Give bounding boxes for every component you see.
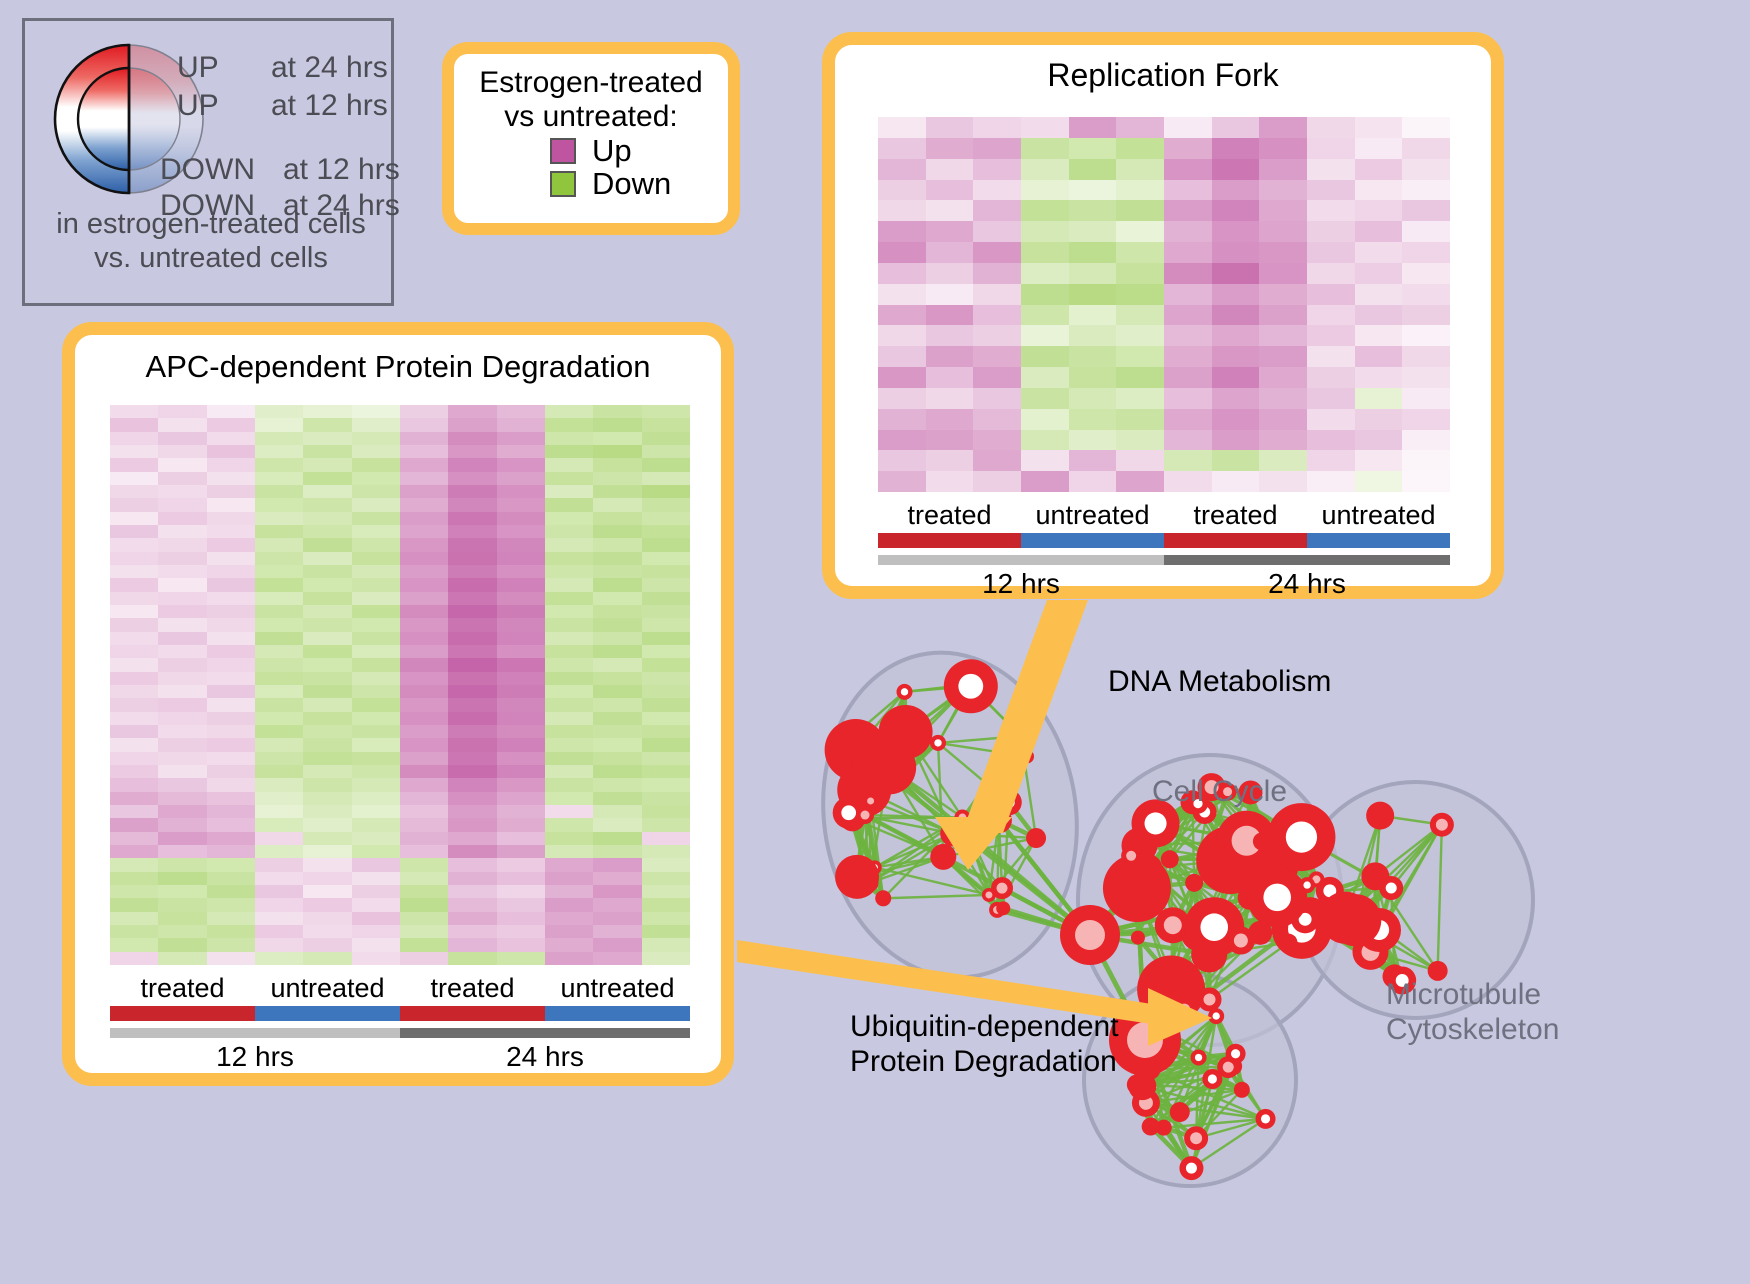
heatmap-cell	[642, 752, 690, 765]
heatmap-cell	[1164, 409, 1212, 430]
heatmap-cell	[400, 592, 448, 605]
heatmap-cell	[255, 738, 303, 751]
heatmap-cell	[1069, 388, 1117, 409]
heatmap-cell	[352, 525, 400, 538]
heatmap-cell	[545, 552, 593, 565]
heatmap-cell	[303, 512, 351, 525]
heatmap-cell	[545, 472, 593, 485]
heatmap-cell	[303, 885, 351, 898]
heatmap-cell	[593, 698, 641, 711]
heatmap-cell	[255, 472, 303, 485]
heatmap-cell	[973, 159, 1021, 180]
heatmap-cell	[497, 512, 545, 525]
heatmap-cell	[1355, 242, 1403, 263]
heatmap-cell	[110, 512, 158, 525]
heatmap-cell	[1355, 450, 1403, 471]
heatmap-cell	[1402, 221, 1450, 242]
heatmap-cell	[400, 845, 448, 858]
heatmap-cell	[497, 778, 545, 791]
heatmap-cell	[448, 578, 496, 591]
heatmap-cell	[400, 498, 448, 511]
heatmap-cell	[593, 832, 641, 845]
heatmap-cell	[1355, 263, 1403, 284]
heatmap-cell	[303, 898, 351, 911]
heatmap-cell	[158, 552, 206, 565]
heatmap-cell	[400, 525, 448, 538]
network-node-core	[1263, 884, 1291, 912]
heatmap-cell	[448, 605, 496, 618]
axis-group-label: treated	[878, 500, 1021, 531]
heatmap-cell	[207, 512, 255, 525]
heatmap-cell	[158, 472, 206, 485]
timepoint-label: 12 hrs	[110, 1041, 400, 1073]
heatmap-cell	[448, 912, 496, 925]
heatmap-cell	[110, 565, 158, 578]
heatmap-cell	[352, 805, 400, 818]
network-node-core	[1231, 1049, 1240, 1058]
heatmap-cell	[1116, 325, 1164, 346]
heatmap-cell	[1069, 471, 1117, 492]
heatmap-cell	[110, 685, 158, 698]
heatmap-cell	[303, 485, 351, 498]
heatmap-cell	[352, 485, 400, 498]
color-key-footnote: in estrogen-treated cells vs. untreated …	[25, 207, 397, 275]
treatment-color-bar	[110, 1006, 690, 1021]
heatmap-cell	[352, 472, 400, 485]
heatmap-cell	[1259, 117, 1307, 138]
heatmap-cell	[1021, 388, 1069, 409]
heatmap-cell	[352, 632, 400, 645]
heatmap-cell	[926, 409, 974, 430]
heatmap-cell	[255, 485, 303, 498]
key-word-up-12: UP	[177, 89, 219, 123]
heatmap-cell	[400, 725, 448, 738]
heatmap-cell	[1402, 180, 1450, 201]
heatmap-cell	[207, 845, 255, 858]
heatmap-cell	[593, 792, 641, 805]
heatmap-cell	[400, 405, 448, 418]
heatmap-cell	[400, 645, 448, 658]
network-node-core	[1195, 1054, 1202, 1061]
heatmap-cell	[545, 658, 593, 671]
heatmap-cell	[110, 458, 158, 471]
heatmap-cell	[207, 645, 255, 658]
treatment-bar-segment	[1021, 533, 1164, 548]
heatmap-cell	[1307, 325, 1355, 346]
heatmap-cell	[110, 578, 158, 591]
heatmap-cell	[593, 472, 641, 485]
network-node-core	[1386, 882, 1397, 893]
heatmap-cell	[303, 418, 351, 431]
heatmap-cell	[642, 765, 690, 778]
color-key-box: UP at 24 hrs UP at 12 hrs DOWN at 12 hrs…	[22, 18, 394, 306]
heatmap-cell	[545, 872, 593, 885]
network-node-core	[1127, 1022, 1163, 1058]
network-node-core	[861, 811, 870, 820]
heatmap-cell	[303, 685, 351, 698]
color-key-footnote-line2: vs. untreated cells	[25, 241, 397, 275]
network-node	[1185, 874, 1203, 892]
heatmap-cell	[926, 200, 974, 221]
heatmap-cell	[1212, 284, 1260, 305]
heatmap-cell	[1212, 409, 1260, 430]
heatmap-cell	[207, 658, 255, 671]
heatmap-cell	[207, 498, 255, 511]
heatmap-cell	[448, 712, 496, 725]
heatmap-cell	[255, 512, 303, 525]
heatmap-cell	[110, 858, 158, 871]
network-node-core	[867, 797, 874, 804]
heatmap-cell	[1212, 305, 1260, 326]
axis-group-label: untreated	[1307, 500, 1450, 531]
heatmap-cell	[110, 738, 158, 751]
heatmap-cell	[400, 458, 448, 471]
heatmap-cell	[207, 525, 255, 538]
heatmap-cell	[400, 752, 448, 765]
heatmap-cell	[1069, 305, 1117, 326]
heatmap-cell	[1259, 430, 1307, 451]
network-node-core	[958, 814, 966, 822]
cluster-label-dna-metabolism: DNA Metabolism	[1108, 665, 1331, 700]
heatmap-cell	[158, 538, 206, 551]
heatmap-cell	[303, 952, 351, 965]
heatmap-cell	[497, 538, 545, 551]
heatmap-cell	[497, 418, 545, 431]
heatmap-cell	[1116, 346, 1164, 367]
heatmap-cell	[1116, 409, 1164, 430]
heatmap-cell	[1355, 325, 1403, 346]
heatmap-cell	[642, 525, 690, 538]
heatmap-cell	[110, 818, 158, 831]
heatmap-cell	[255, 618, 303, 631]
heatmap-cell	[110, 592, 158, 605]
axis-group-label: untreated	[545, 973, 690, 1004]
heatmap-cell	[926, 159, 974, 180]
key-time-down-12: at 12 hrs	[283, 153, 400, 187]
heatmap-cell	[1259, 367, 1307, 388]
heatmap-cell	[400, 792, 448, 805]
heatmap-cell	[878, 221, 926, 242]
heatmap-cell	[352, 832, 400, 845]
heatmap-cell	[207, 832, 255, 845]
heatmap-cell	[110, 912, 158, 925]
heatmap-cell	[1021, 180, 1069, 201]
heatmap-cell	[593, 458, 641, 471]
heatmap-cell	[593, 592, 641, 605]
heatmap-cell	[448, 845, 496, 858]
heatmap-cell	[207, 792, 255, 805]
heatmap-cell	[497, 472, 545, 485]
heatmap-cell	[545, 832, 593, 845]
heatmap-cell	[642, 818, 690, 831]
heatmap-cell	[1355, 180, 1403, 201]
axis-group-label: untreated	[1021, 500, 1164, 531]
heatmap-cell	[973, 471, 1021, 492]
heatmap-cell	[545, 778, 593, 791]
heatmap-cell	[158, 832, 206, 845]
timepoint-label: 24 hrs	[1164, 568, 1450, 600]
heatmap-cell	[352, 685, 400, 698]
heatmap-cell	[1355, 430, 1403, 451]
heatmap-cell	[1116, 388, 1164, 409]
heatmap-cell	[497, 845, 545, 858]
heatmap-cell	[497, 632, 545, 645]
heatmap-cell	[303, 658, 351, 671]
heatmap-cell	[400, 605, 448, 618]
heatmap-cell	[400, 485, 448, 498]
heatmap-cell	[207, 578, 255, 591]
legend-title-line2: vs untreated:	[454, 100, 728, 134]
heatmap-cell	[303, 912, 351, 925]
heatmap-cell	[207, 818, 255, 831]
heatmap-cell	[545, 578, 593, 591]
heatmap-cell	[642, 925, 690, 938]
heatmap-cell	[110, 432, 158, 445]
key-word-down-12: DOWN	[160, 153, 255, 187]
heatmap-cell	[400, 832, 448, 845]
network-node	[1234, 1082, 1250, 1098]
heatmap-cell	[973, 325, 1021, 346]
heatmap-cell	[973, 367, 1021, 388]
heatmap-cell	[303, 645, 351, 658]
heatmap-cell	[1402, 263, 1450, 284]
heatmap-cell	[497, 525, 545, 538]
heatmap-cell	[110, 778, 158, 791]
heatmap-cell	[158, 658, 206, 671]
heatmap-cell	[1212, 346, 1260, 367]
heatmap-cell	[255, 805, 303, 818]
pathway-network-diagram: DNA Metabolism Cell Cycle Microtubule Cy…	[790, 610, 1750, 1279]
heatmap-cell	[973, 409, 1021, 430]
heatmap-cell	[1021, 305, 1069, 326]
heatmap-cell	[878, 242, 926, 263]
heatmap-cell	[593, 725, 641, 738]
heatmap-cell	[545, 752, 593, 765]
network-node-core	[1208, 1074, 1217, 1083]
heatmap-cell	[158, 712, 206, 725]
heatmap-cell	[110, 658, 158, 671]
heatmap-cell	[642, 858, 690, 871]
heatmap-cell	[497, 618, 545, 631]
heatmap-cell	[207, 672, 255, 685]
legend-card: Estrogen-treated vs untreated: Up Down	[442, 42, 740, 235]
axis-group-labels: treateduntreatedtreateduntreated	[110, 973, 690, 1004]
heatmap-cell	[158, 605, 206, 618]
heatmap-cell	[497, 605, 545, 618]
heatmap-cell	[400, 912, 448, 925]
heatmap-cell	[545, 725, 593, 738]
heatmap-cell	[110, 898, 158, 911]
heatmap-cell	[352, 938, 400, 951]
heatmap-cell	[1355, 346, 1403, 367]
heatmap-cell	[593, 738, 641, 751]
heatmap-cell	[1069, 367, 1117, 388]
heatmap-cell	[497, 578, 545, 591]
heatmap-cell	[545, 605, 593, 618]
heatmap-cell	[1021, 325, 1069, 346]
heatmap-cell	[1164, 471, 1212, 492]
heatmap-cell	[497, 912, 545, 925]
heatmap-cell	[1164, 138, 1212, 159]
heatmap-cell	[158, 418, 206, 431]
heatmap-cell	[158, 938, 206, 951]
heatmap-cell	[207, 912, 255, 925]
heatmap-cell	[1069, 284, 1117, 305]
heatmap-cell	[926, 367, 974, 388]
treatment-bar-segment	[878, 533, 1021, 548]
heatmap-cell	[158, 952, 206, 965]
heatmap-cell	[352, 578, 400, 591]
heatmap-cell	[1307, 471, 1355, 492]
heatmap-cell	[497, 432, 545, 445]
heatmap-cell	[497, 405, 545, 418]
heatmap-cell	[110, 712, 158, 725]
heatmap-cell	[497, 485, 545, 498]
heatmap-cell	[545, 712, 593, 725]
heatmap-cell	[400, 938, 448, 951]
legend-swatch-up	[550, 138, 576, 164]
heatmap-cell	[593, 912, 641, 925]
heatmap-cell	[448, 938, 496, 951]
heatmap-cell	[545, 645, 593, 658]
network-node-core	[1223, 1062, 1234, 1073]
heatmap-cell	[448, 485, 496, 498]
network-node	[853, 733, 915, 795]
heatmap-cell	[448, 792, 496, 805]
heatmap-cell	[255, 525, 303, 538]
heatmap-cell	[352, 672, 400, 685]
heatmap-cell	[158, 925, 206, 938]
heatmap-cell	[352, 818, 400, 831]
heatmap-cell	[303, 405, 351, 418]
heatmap-cell	[303, 592, 351, 605]
heatmap-cell	[642, 565, 690, 578]
heatmap-cell	[497, 818, 545, 831]
apc-panel: APC-dependent Protein Degradation treate…	[62, 322, 734, 1086]
heatmap-cell	[158, 885, 206, 898]
heatmap-cell	[448, 885, 496, 898]
heatmap-cell	[207, 418, 255, 431]
heatmap-cell	[255, 405, 303, 418]
heatmap-cell	[110, 952, 158, 965]
heatmap-cell	[926, 284, 974, 305]
heatmap-cell	[1116, 284, 1164, 305]
heatmap-cell	[400, 512, 448, 525]
legend-title: Estrogen-treated vs untreated:	[454, 66, 728, 133]
network-node-core	[1303, 881, 1310, 888]
heatmap-cell	[545, 858, 593, 871]
heatmap-cell	[1164, 221, 1212, 242]
heatmap-cell	[593, 445, 641, 458]
treatment-bar-segment	[110, 1006, 255, 1021]
heatmap-cell	[593, 925, 641, 938]
heatmap-cell	[400, 672, 448, 685]
network-node-core	[1261, 1114, 1270, 1123]
heatmap-cell	[352, 658, 400, 671]
heatmap-cell	[1021, 409, 1069, 430]
heatmap-cell	[1307, 367, 1355, 388]
network-node	[1142, 1118, 1160, 1136]
heatmap-cell	[207, 725, 255, 738]
heatmap-cell	[448, 765, 496, 778]
heatmap-cell	[158, 858, 206, 871]
heatmap-cell	[255, 832, 303, 845]
heatmap-cell	[400, 738, 448, 751]
heatmap-cell	[593, 752, 641, 765]
heatmap-cell	[448, 538, 496, 551]
network-node-core	[1164, 916, 1182, 934]
heatmap-cell	[352, 618, 400, 631]
heatmap-cell	[303, 498, 351, 511]
network-node	[1253, 832, 1271, 850]
heatmap-cell	[545, 498, 593, 511]
heatmap-cell	[303, 578, 351, 591]
heatmap-cell	[110, 498, 158, 511]
heatmap-cell	[1259, 471, 1307, 492]
heatmap-cell	[642, 832, 690, 845]
heatmap-cell	[497, 552, 545, 565]
heatmap-cell	[926, 180, 974, 201]
heatmap-cell	[1307, 242, 1355, 263]
heatmap-cell	[1259, 138, 1307, 159]
heatmap-cell	[642, 712, 690, 725]
heatmap-cell	[1212, 138, 1260, 159]
heatmap-cell	[255, 458, 303, 471]
replication-fork-title: Replication Fork	[835, 57, 1491, 94]
heatmap-cell	[207, 592, 255, 605]
network-node-core	[1190, 1132, 1202, 1144]
network-node-core	[958, 674, 983, 699]
heatmap-cell	[545, 685, 593, 698]
treatment-bar-segment	[545, 1006, 690, 1021]
network-node	[1170, 1102, 1190, 1122]
heatmap-cell	[158, 632, 206, 645]
timepoint-color-bar	[878, 555, 1450, 565]
heatmap-cell	[1355, 367, 1403, 388]
treatment-bar-segment	[400, 1006, 545, 1021]
heatmap-cell	[400, 418, 448, 431]
heatmap-cell	[926, 263, 974, 284]
heatmap-cell	[1259, 221, 1307, 242]
heatmap-cell	[593, 685, 641, 698]
heatmap-cell	[1164, 305, 1212, 326]
heatmap-cell	[545, 538, 593, 551]
heatmap-cell	[303, 832, 351, 845]
heatmap-cell	[1307, 159, 1355, 180]
heatmap-cell	[352, 952, 400, 965]
heatmap-cell	[497, 738, 545, 751]
heatmap-cell	[973, 200, 1021, 221]
apc-title: APC-dependent Protein Degradation	[75, 349, 721, 385]
heatmap-cell	[497, 858, 545, 871]
heatmap-cell	[448, 565, 496, 578]
heatmap-cell	[352, 592, 400, 605]
heatmap-cell	[593, 845, 641, 858]
heatmap-cell	[878, 325, 926, 346]
heatmap-cell	[878, 450, 926, 471]
heatmap-cell	[1307, 263, 1355, 284]
heatmap-cell	[1212, 430, 1260, 451]
heatmap-cell	[1164, 325, 1212, 346]
heatmap-cell	[448, 952, 496, 965]
heatmap-cell	[545, 925, 593, 938]
heatmap-cell	[303, 472, 351, 485]
heatmap-cell	[207, 752, 255, 765]
network-node-core	[992, 814, 1005, 827]
network-node-core	[985, 891, 992, 898]
heatmap-cell	[255, 432, 303, 445]
heatmap-cell	[158, 458, 206, 471]
